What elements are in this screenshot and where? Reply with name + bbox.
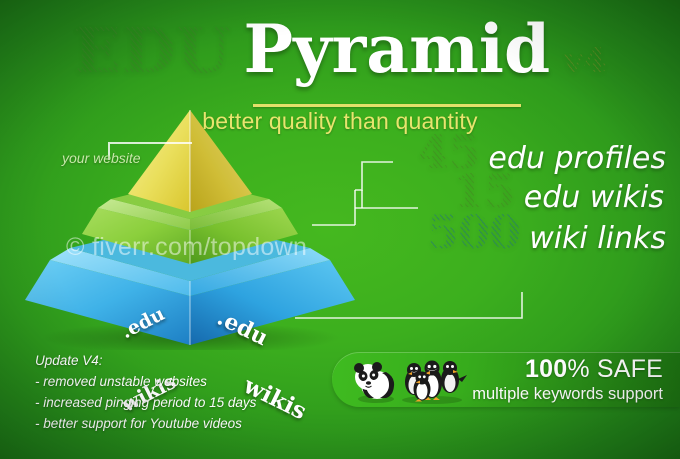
- badge-subtitle: multiple keywords support: [472, 386, 663, 403]
- pyramid-graphic: .edu .edu wikis wikis: [20, 100, 360, 350]
- your-website-label: your website: [62, 150, 141, 166]
- page-title: EDUPyramidv4: [0, 16, 680, 82]
- stat-row-wiki-links: 500 wiki links: [356, 209, 666, 256]
- penguin-group-icon: [402, 361, 467, 405]
- stat-label-edu-profiles: edu profiles: [488, 141, 666, 176]
- update-note-item: - increased pinging period to 15 days: [35, 393, 256, 414]
- update-note-item: - removed unstable websites: [35, 372, 256, 393]
- pyramid-svg: [20, 100, 360, 350]
- title-edu-word: EDU: [73, 20, 231, 82]
- stats-list: 45 edu profiles 15 edu wikis 500 wiki li…: [356, 129, 666, 252]
- badge-animals: [346, 355, 486, 405]
- update-notes: Update V4: - removed unstable websites -…: [35, 351, 256, 435]
- update-notes-heading: Update V4:: [35, 351, 256, 372]
- badge-percent-suffix: % SAFE: [567, 355, 663, 383]
- update-note-item: - better support for Youtube videos: [35, 414, 256, 435]
- badge-safe-line: 100% SAFE: [472, 357, 663, 382]
- version-badge: v4: [563, 44, 606, 78]
- badge-text: 100% SAFE multiple keywords support: [472, 357, 663, 403]
- panda-icon: [354, 362, 394, 403]
- title-pyramid-word: Pyramid: [244, 16, 551, 82]
- stat-label-edu-wikis: edu wikis: [524, 180, 664, 215]
- stat-number-500: 500: [427, 209, 520, 256]
- poster-canvas: EDUPyramidv4 better quality than quantit…: [0, 0, 680, 459]
- badge-percent-number: 100: [525, 355, 567, 383]
- stat-label-wiki-links: wiki links: [529, 221, 666, 256]
- safe-badge: 100% SAFE multiple keywords support: [332, 352, 680, 407]
